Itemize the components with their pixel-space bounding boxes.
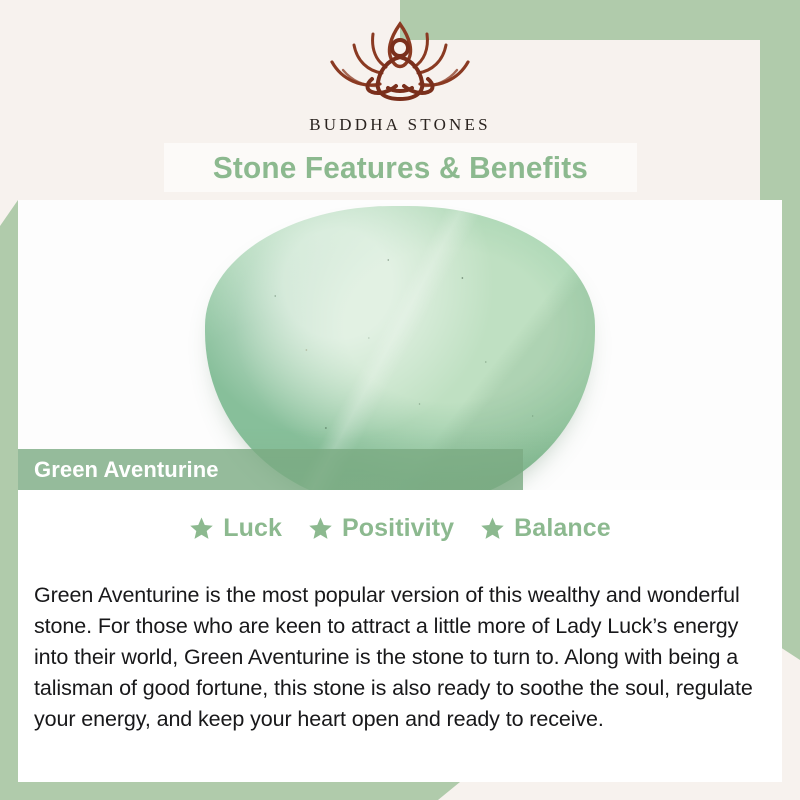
benefits-row: Luck Positivity Balance (18, 514, 782, 543)
benefit-item-positivity: Positivity (308, 514, 454, 543)
brand-wordmark: BUDDHA STONES (309, 115, 491, 135)
benefit-label-positivity: Positivity (342, 514, 454, 543)
stone-name-bar: Green Aventurine (18, 449, 523, 490)
benefit-item-balance: Balance (480, 514, 611, 543)
frame-band-left (0, 200, 18, 800)
star-icon (189, 516, 214, 541)
brand-logo: BUDDHA STONES (0, 18, 800, 135)
lotus-meditation-figure-icon (310, 18, 490, 110)
stone-photo (18, 200, 782, 490)
benefit-item-luck: Luck (189, 514, 282, 543)
frame-band-bottom (0, 782, 460, 800)
green-aventurine-stone-image (205, 206, 595, 490)
star-icon (308, 516, 333, 541)
infographic-card: BUDDHA STONES Stone Features & Benefits … (0, 0, 800, 800)
description-paragraph: Green Aventurine is the most popular ver… (34, 580, 776, 735)
stone-name-label: Green Aventurine (34, 457, 219, 483)
page-title: Stone Features & Benefits (213, 150, 588, 186)
benefit-label-balance: Balance (514, 514, 611, 543)
title-banner: Stone Features & Benefits (164, 143, 637, 192)
star-icon (480, 516, 505, 541)
benefit-label-luck: Luck (223, 514, 282, 543)
